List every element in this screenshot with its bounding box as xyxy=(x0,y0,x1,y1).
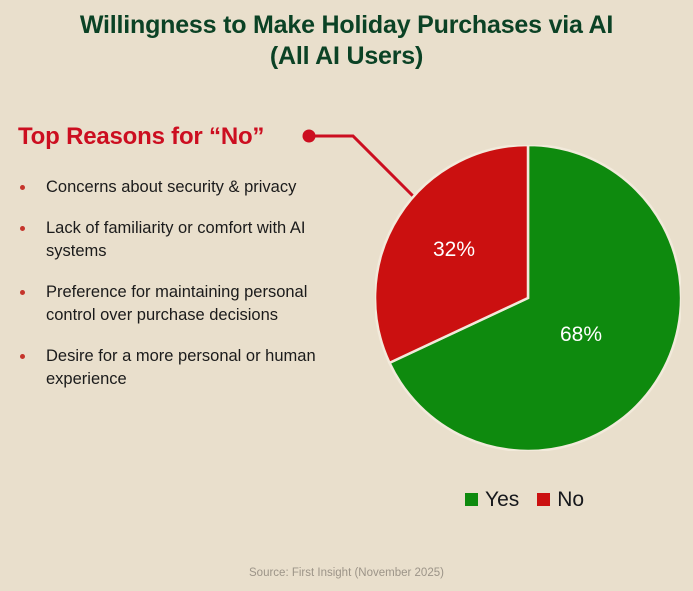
list-item-label: Lack of familiarity or comfort with AI s… xyxy=(46,219,306,260)
pie-label-no: 32% xyxy=(433,239,475,260)
pie-chart xyxy=(375,145,681,451)
legend-swatch-no-icon xyxy=(537,493,550,506)
legend-item-no[interactable]: No xyxy=(537,489,584,510)
top-reasons-heading: Top Reasons for “No” xyxy=(18,123,264,151)
bullet-dot-icon xyxy=(20,185,25,190)
list-item: Desire for a more personal or human expe… xyxy=(16,345,336,391)
legend-swatch-yes-icon xyxy=(465,493,478,506)
list-item: Concerns about security & privacy xyxy=(16,176,336,199)
list-item: Lack of familiarity or comfort with AI s… xyxy=(16,217,336,263)
legend-label-yes: Yes xyxy=(485,489,519,510)
legend-label-no: No xyxy=(557,489,584,510)
top-reasons-list: Concerns about security & privacy Lack o… xyxy=(16,176,336,391)
page-title: Willingness to Make Holiday Purchases vi… xyxy=(0,10,693,72)
bullet-dot-icon xyxy=(20,354,25,359)
page-title-line-2: (All AI Users) xyxy=(0,41,693,72)
list-item-label: Desire for a more personal or human expe… xyxy=(46,347,316,388)
list-item: Preference for maintaining personal cont… xyxy=(16,281,336,327)
callout-dot-icon xyxy=(303,130,316,143)
bullet-dot-icon xyxy=(20,226,25,231)
page-title-line-1: Willingness to Make Holiday Purchases vi… xyxy=(0,10,693,41)
list-item-label: Concerns about security & privacy xyxy=(46,178,296,196)
pie-label-yes: 68% xyxy=(560,324,602,345)
source-note: Source: First Insight (November 2025) xyxy=(0,567,693,579)
chart-legend: Yes No xyxy=(465,489,584,510)
bullet-dot-icon xyxy=(20,290,25,295)
slide-canvas: Willingness to Make Holiday Purchases vi… xyxy=(0,0,693,591)
legend-item-yes[interactable]: Yes xyxy=(465,489,519,510)
pie-chart-svg xyxy=(375,145,681,451)
list-item-label: Preference for maintaining personal cont… xyxy=(46,283,307,324)
